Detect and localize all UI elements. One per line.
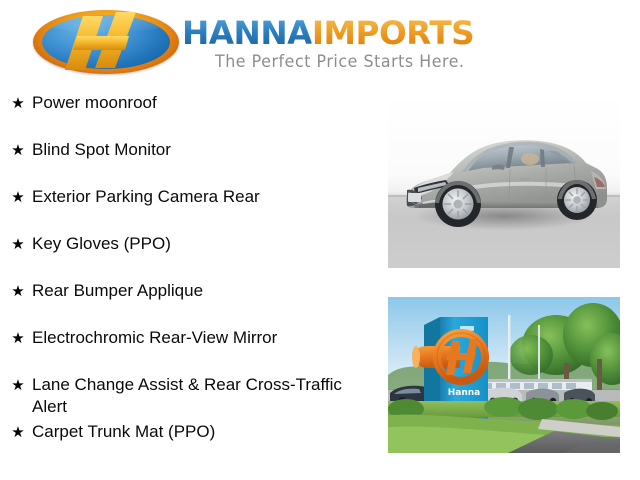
star-bullet-icon: ★ <box>8 139 28 161</box>
page-header: HANNAIMPORTS The Perfect Price Starts He… <box>0 0 640 86</box>
feature-label: Electrochromic Rear-View Mirror <box>28 327 368 349</box>
brand-word-imports: IMPORTS <box>312 14 474 52</box>
dealer-sign-text-top: Hanna <box>448 388 481 398</box>
star-bullet-icon: ★ <box>8 92 28 114</box>
star-bullet-icon: ★ <box>8 421 28 443</box>
feature-label: Carpet Trunk Mat (PPO) <box>28 421 368 443</box>
feature-label: Lane Change Assist & Rear Cross-Traffic … <box>28 374 368 418</box>
list-item: ★ Blind Spot Monitor <box>0 139 372 186</box>
list-item: ★ Key Gloves (PPO) <box>0 233 372 280</box>
star-bullet-icon: ★ <box>8 186 28 208</box>
logo-h-letter-icon <box>33 10 179 74</box>
star-bullet-icon: ★ <box>8 374 28 396</box>
vehicle-photo[interactable] <box>388 93 620 268</box>
list-item: ★ Electrochromic Rear-View Mirror <box>0 327 372 374</box>
brand-wordmark: HANNAIMPORTS <box>182 16 474 50</box>
list-item: ★ Rear Bumper Applique <box>0 280 372 327</box>
star-bullet-icon: ★ <box>8 233 28 255</box>
feature-label: Rear Bumper Applique <box>28 280 368 302</box>
brand-tagline: The Perfect Price Starts Here. <box>215 52 465 72</box>
feature-label: Blind Spot Monitor <box>28 139 368 161</box>
dealership-photo[interactable]: Hanna IMPORTS <box>388 297 620 453</box>
feature-label: Key Gloves (PPO) <box>28 233 368 255</box>
list-item: ★ Carpet Trunk Mat (PPO) <box>0 421 372 468</box>
hanna-oval-h-logo-icon <box>33 10 179 74</box>
star-bullet-icon: ★ <box>8 280 28 302</box>
list-item: ★ Exterior Parking Camera Rear <box>0 186 372 233</box>
star-bullet-icon: ★ <box>8 327 28 349</box>
dealership-illustration-icon: Hanna IMPORTS <box>388 297 620 453</box>
car-illustration-icon <box>388 93 620 268</box>
feature-label: Exterior Parking Camera Rear <box>28 186 368 208</box>
brand-word-hanna: HANNA <box>182 14 312 52</box>
feature-label: Power moonroof <box>28 92 368 114</box>
list-item: ★ Power moonroof <box>0 92 372 139</box>
vehicle-feature-list: ★ Power moonroof ★ Blind Spot Monitor ★ … <box>0 92 372 468</box>
list-item: ★ Lane Change Assist & Rear Cross-Traffi… <box>0 374 372 421</box>
